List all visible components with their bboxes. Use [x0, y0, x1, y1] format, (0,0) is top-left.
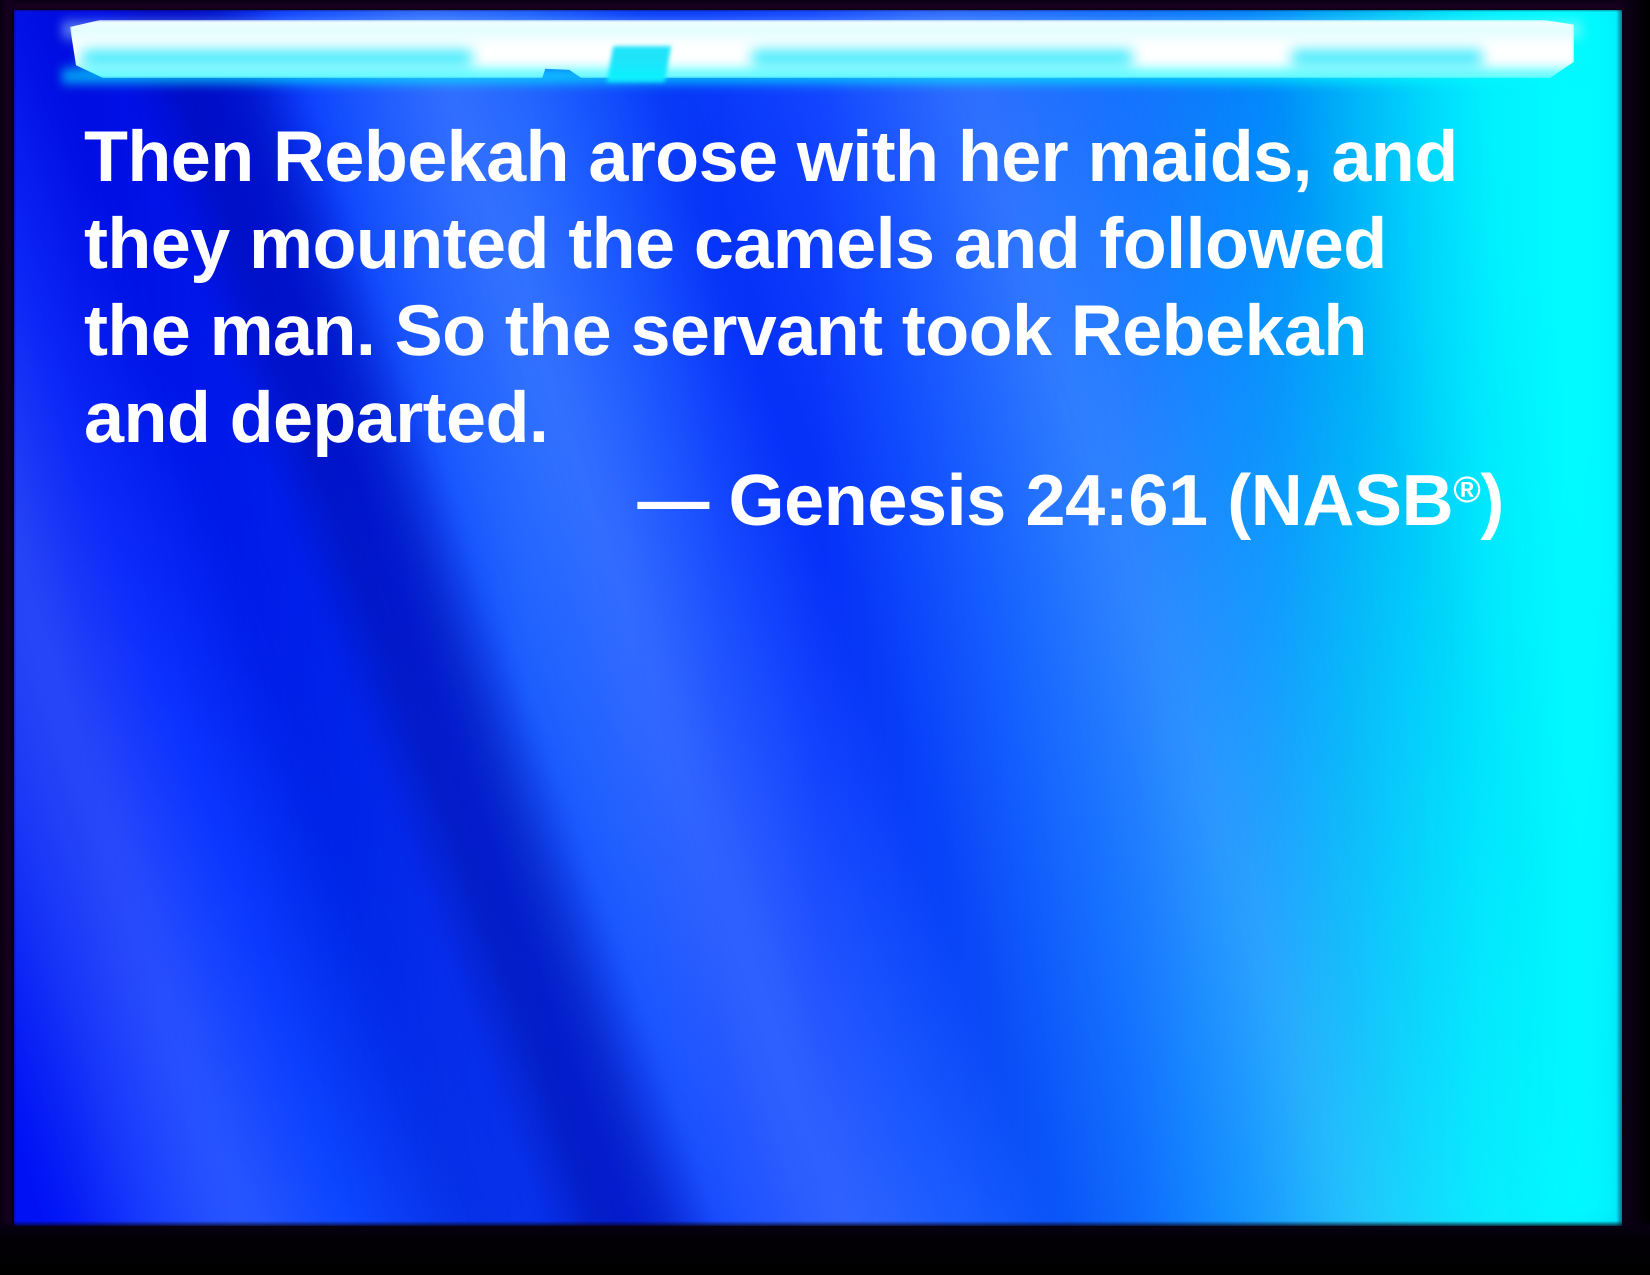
verse-citation: — Genesis 24:61 (NASB®) [84, 459, 1504, 543]
banner-cyan-wisp-center [752, 50, 1132, 66]
frame-edge-right [1616, 0, 1650, 1275]
banner-white-shape [70, 20, 1574, 78]
frame-edge-bottom [0, 1221, 1650, 1275]
frame-edge-top [0, 0, 1650, 12]
top-highlight-banner [62, 20, 1582, 82]
citation-closing-paren: ) [1480, 461, 1504, 541]
banner-cyan-wisp-right [1292, 50, 1482, 66]
verse-slide: Then Rebekah arose with her maids, and t… [0, 0, 1650, 1275]
registered-trademark-icon: ® [1453, 468, 1480, 510]
citation-reference: — Genesis 24:61 (NASB [637, 461, 1453, 541]
verse-text-block: Then Rebekah arose with her maids, and t… [84, 114, 1504, 462]
banner-cyan-notch [607, 46, 671, 82]
banner-cyan-wisp-left [82, 50, 472, 66]
verse-text: Then Rebekah arose with her maids, and t… [84, 114, 1504, 462]
frame-edge-left [0, 0, 16, 1275]
